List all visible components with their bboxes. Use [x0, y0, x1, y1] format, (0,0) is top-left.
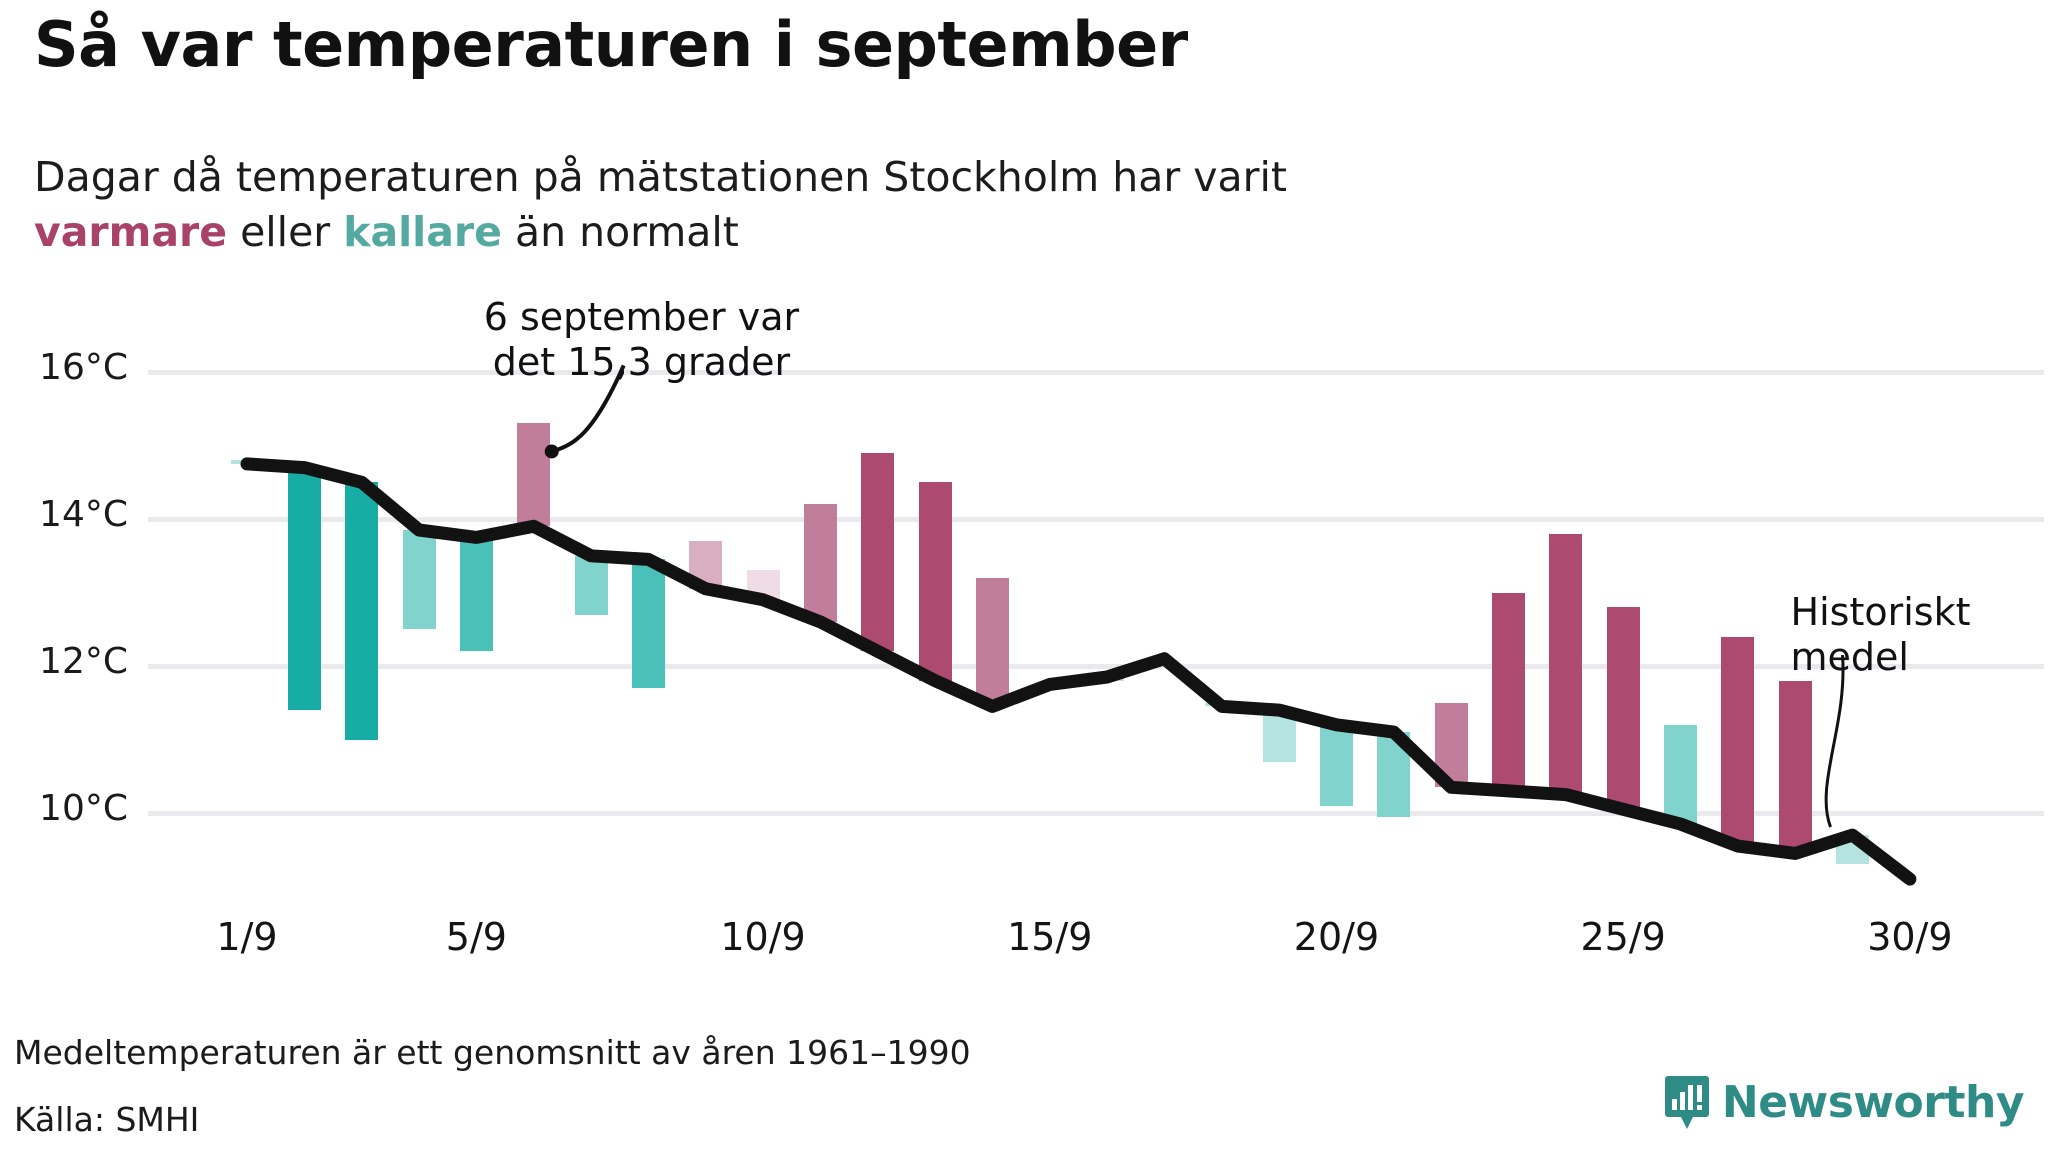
annotation-average-line-2: medel: [1791, 635, 1971, 680]
annotation-average-line: Historiskt medel: [1791, 590, 1971, 680]
bar-day-26[interactable]: [1664, 725, 1697, 824]
annotation-peak-line-1: 6 september var: [484, 295, 799, 340]
x-axis-tick-15-9: 15/9: [1007, 915, 1092, 959]
bar-day-3[interactable]: [345, 482, 378, 739]
footnote-method: Medeltemperaturen är ett genomsnitt av å…: [14, 1033, 971, 1072]
x-axis-tick-30-9: 30/9: [1867, 915, 1952, 959]
bar-day-12[interactable]: [861, 453, 894, 651]
x-axis-tick-10-9: 10/9: [720, 915, 805, 959]
bar-day-29[interactable]: [1836, 835, 1869, 864]
bar-day-14[interactable]: [976, 578, 1009, 707]
bar-day-13[interactable]: [919, 482, 952, 680]
bar-day-1[interactable]: [231, 460, 264, 464]
y-axis-tick-16: 16°C: [0, 347, 128, 388]
annotation-peak-line-2: det 15,3 grader: [484, 340, 799, 385]
chart-page: Så var temperaturen i september Dagar då…: [0, 0, 2048, 1152]
y-axis-tick-12: 12°C: [0, 641, 128, 682]
bar-day-22[interactable]: [1435, 703, 1468, 788]
bar-day-8[interactable]: [632, 559, 665, 688]
bar-day-23[interactable]: [1492, 593, 1525, 791]
bar-day-20[interactable]: [1320, 725, 1353, 806]
x-axis-tick-5-9: 5/9: [446, 915, 507, 959]
bar-chart-logo-icon: [1664, 1074, 1710, 1130]
y-axis-tick-10: 10°C: [0, 788, 128, 829]
bar-day-18[interactable]: [1205, 703, 1238, 707]
x-axis-tick-20-9: 20/9: [1294, 915, 1379, 959]
annotation-peak: 6 september var det 15,3 grader: [484, 295, 799, 385]
bar-day-9[interactable]: [689, 541, 722, 589]
bar-day-25[interactable]: [1607, 607, 1640, 809]
bar-day-16[interactable]: [1091, 677, 1124, 681]
bar-day-11[interactable]: [804, 504, 837, 622]
bar-day-27[interactable]: [1721, 637, 1754, 846]
gridline-10: [148, 811, 2044, 816]
bar-day-6[interactable]: [517, 423, 550, 526]
y-axis-tick-14: 14°C: [0, 494, 128, 535]
bar-day-2[interactable]: [288, 468, 321, 711]
gridline-12: [148, 664, 2044, 669]
bar-day-15[interactable]: [1033, 684, 1066, 688]
bar-day-4[interactable]: [403, 530, 436, 629]
brand-logo[interactable]: Newsworthy: [1664, 1074, 2024, 1130]
gridline-16: [148, 370, 2044, 375]
bar-day-21[interactable]: [1377, 732, 1410, 817]
chart-plot-area: 10°C12°C14°C16°C1/95/910/915/920/925/930…: [0, 0, 2048, 1152]
x-axis-tick-25-9: 25/9: [1580, 915, 1665, 959]
bar-day-19[interactable]: [1263, 710, 1296, 761]
bar-day-10[interactable]: [747, 570, 780, 599]
gridline-14: [148, 517, 2044, 522]
annotation-average-line-1: Historiskt: [1791, 590, 1971, 635]
footnote-source: Källa: SMHI: [14, 1100, 199, 1139]
brand-name: Newsworthy: [1722, 1077, 2024, 1128]
bar-day-7[interactable]: [575, 556, 608, 615]
x-axis-tick-1-9: 1/9: [216, 915, 277, 959]
bar-day-28[interactable]: [1779, 681, 1812, 854]
bar-day-24[interactable]: [1549, 534, 1582, 795]
bar-day-5[interactable]: [460, 537, 493, 651]
